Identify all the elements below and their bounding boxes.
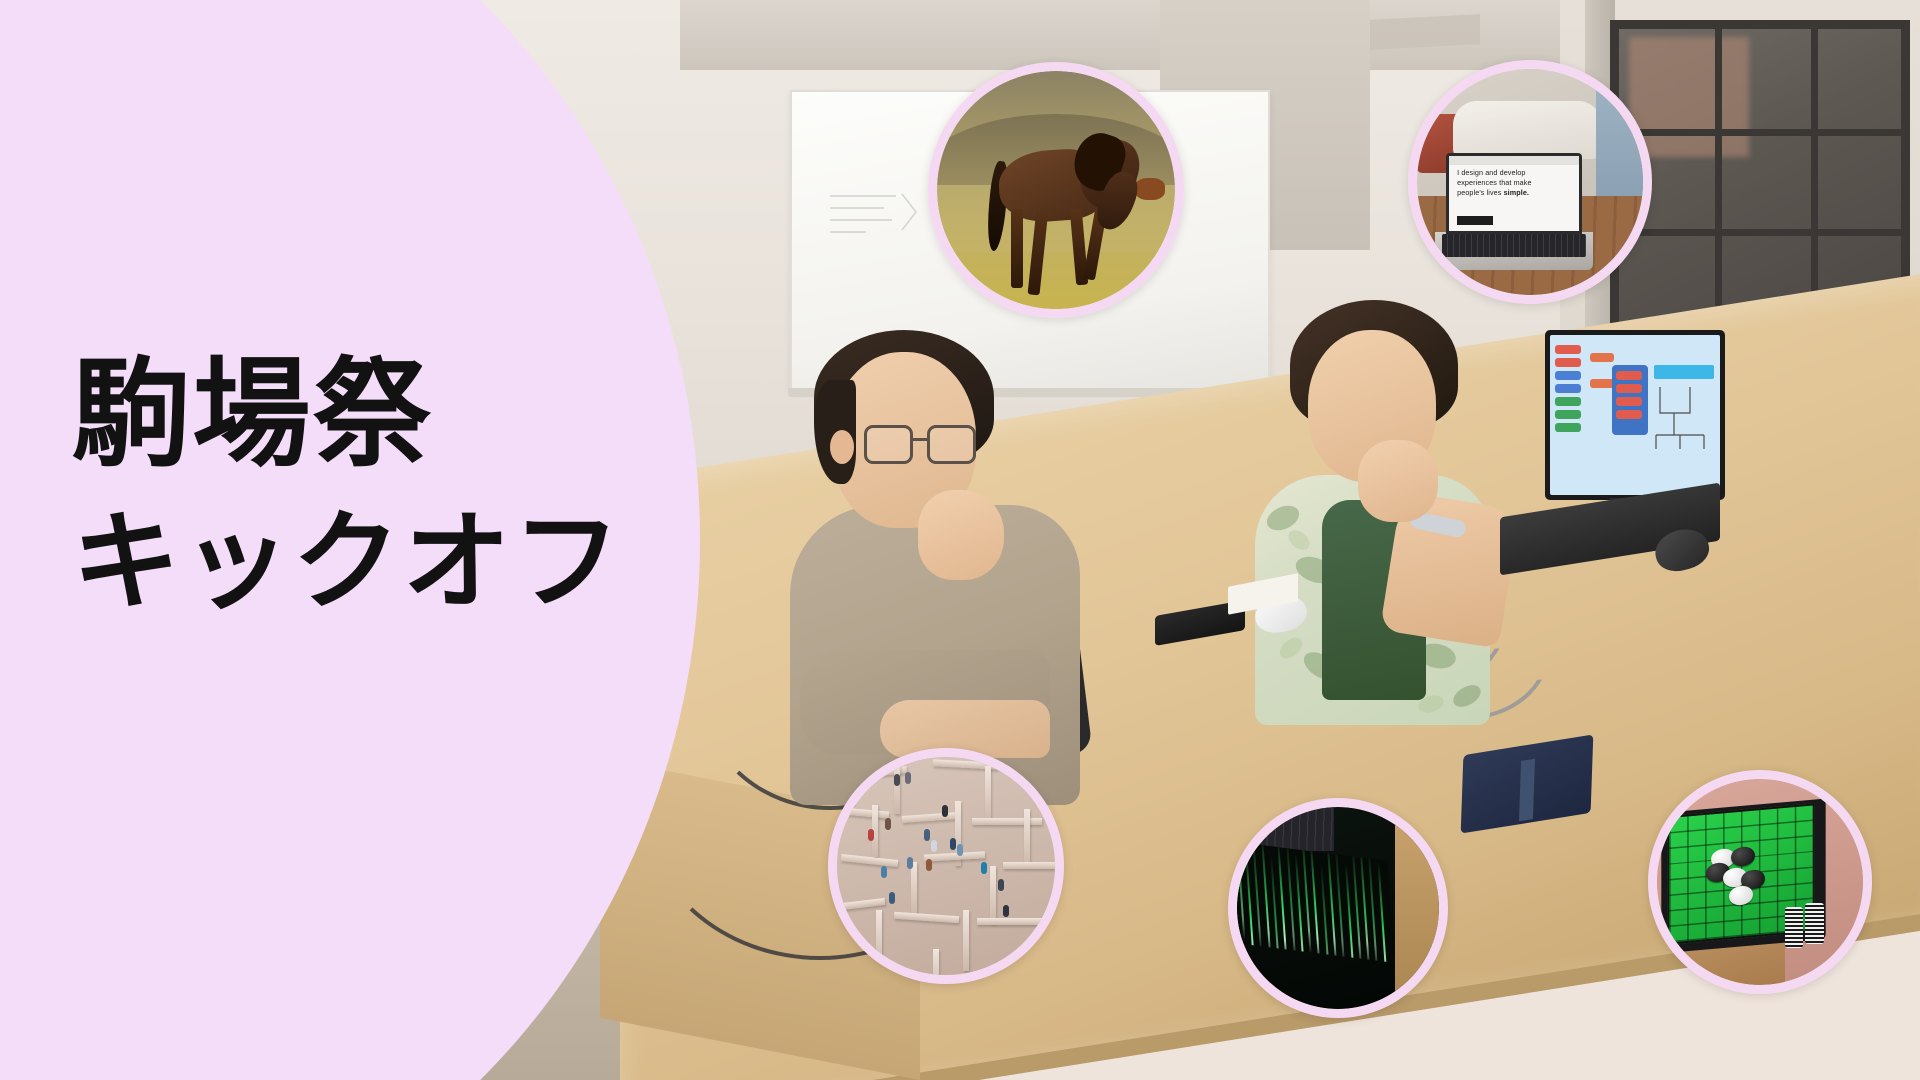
quote-text: I design and develop experiences that ma… [1457, 168, 1574, 199]
disc-stack [1785, 907, 1804, 948]
kickoff-banner: 駒場祭 キックオフ [0, 0, 1920, 1080]
bubble-maze[interactable] [828, 748, 1064, 984]
window-mullion-v [1811, 29, 1818, 331]
bubble-matrix[interactable] [1228, 798, 1448, 1018]
window-light [1629, 37, 1749, 157]
title-line-2: キックオフ [72, 509, 712, 617]
disc-stack [1805, 903, 1824, 944]
othello-board-photo [1657, 779, 1863, 985]
matrix-rain-photo [1237, 807, 1439, 1009]
scratch-block-editor [1550, 335, 1720, 495]
glasses-icon [864, 425, 980, 465]
external-monitor [1545, 330, 1725, 500]
title-line-1: 駒場祭 [72, 355, 712, 473]
bubble-horse[interactable] [928, 62, 1184, 318]
horse-photo [937, 71, 1175, 309]
person-left-ear [830, 430, 854, 464]
quote-line-3: people's lives [1457, 188, 1503, 197]
banner-title: 駒場祭 キックオフ [72, 355, 712, 617]
window-mullion-v [1715, 29, 1722, 331]
person-middle-hand [1358, 440, 1438, 522]
bubble-othello[interactable] [1648, 770, 1872, 994]
distant-horse [1135, 178, 1166, 199]
laptop-quote-photo: I design and develop experiences that ma… [1417, 69, 1643, 295]
quote-line-2: experiences that make [1457, 178, 1531, 187]
matrix-screen [1237, 841, 1394, 964]
browser-bar [1449, 156, 1579, 165]
cardboard-maze-photo [837, 757, 1055, 975]
window-mullion-h [1619, 129, 1901, 136]
window-mullion-h [1619, 229, 1901, 236]
quote-emphasis: simple. [1504, 188, 1529, 197]
bubble-laptop-quote[interactable]: I design and develop experiences that ma… [1408, 60, 1652, 304]
cta-button[interactable] [1457, 216, 1493, 225]
quote-line-1: I design and develop [1457, 168, 1525, 177]
whiteboard-scribble [826, 188, 922, 242]
notebook-band [1519, 759, 1535, 822]
laptop-keys [1442, 234, 1587, 257]
laptop-screen: I design and develop experiences that ma… [1446, 153, 1582, 234]
person-left-hand [918, 490, 1004, 580]
